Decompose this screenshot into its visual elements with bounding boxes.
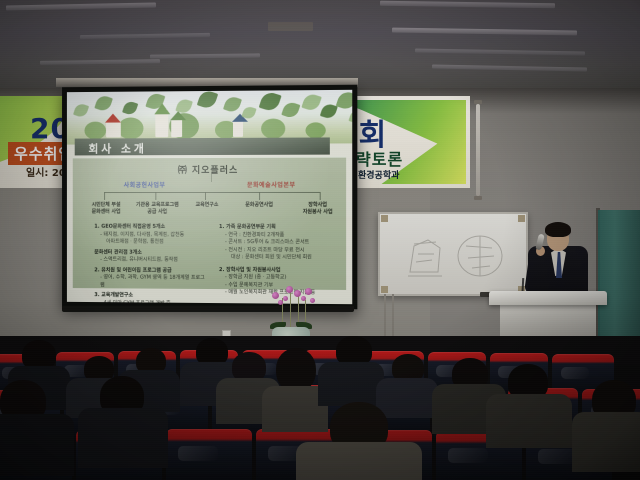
org-node: 기관용 교육프로그램 공급 사업 — [130, 202, 185, 215]
bullet: 대상 : 문화센터 회원 및 시민단체 회원 — [219, 254, 336, 262]
org-node: 장학사업 자원봉사 사업 — [289, 202, 346, 216]
slide-title: 회사 소개 — [88, 140, 146, 156]
whiteboard-stand-leg — [392, 294, 394, 338]
whiteboard — [378, 212, 528, 296]
wall-tube-light — [476, 104, 480, 196]
slide-hero-illustration — [67, 90, 352, 145]
projection-screen: 회사 소개 ㈜ 지오플러스 사회공헌사업부 문화예술사업본부 시민단체 부설 문… — [62, 85, 357, 310]
podium-top — [489, 291, 607, 305]
screen-bottom-bar — [62, 306, 354, 312]
slide-body: ㈜ 지오플러스 사회공헌사업부 문화예술사업본부 시민단체 부설 문화센터 사업… — [73, 157, 346, 290]
bullet: 아파트매점ㆍ문학점, 통천점 — [94, 239, 209, 247]
slide-company-name: ㈜ 지오플러스 — [73, 163, 346, 177]
org-group-label-left: 사회공헌사업부 — [124, 180, 166, 189]
seat — [166, 429, 252, 480]
audience-seating — [0, 336, 640, 480]
bullet: - 스액트리점, 유니버시티드점, 동작점 — [94, 256, 209, 264]
ceiling-vent — [268, 22, 313, 31]
slide-left-column: 1. GEO문화센터 직접운영 5개소 - 돼지점, 이지점, 다사점, 목계점… — [94, 224, 209, 304]
bullet: - 영어, 수학, 과학, GYM 영역 등 18개계열 프로그램 — [94, 274, 209, 290]
door-panel[interactable] — [598, 210, 640, 350]
whiteboard-stand-leg — [384, 294, 386, 338]
speaker-hair — [545, 222, 571, 237]
bullet: - 4세 미만 GYM 프로그램 개발 중 — [94, 300, 209, 305]
org-node: 시민단체 부설 문화센터 사업 — [79, 202, 134, 215]
whiteboard-sketch-icon — [380, 214, 526, 294]
org-node: 교육연구소 — [179, 202, 235, 209]
photograph-scene: 200 우수취업 일시: 2009. 수회 공 전략토론 대학교 환경공학과 — [0, 0, 640, 480]
org-group-label-right: 문화예술사업본부 — [247, 180, 296, 189]
slide-right-column: 1. 가족 문화공연부문 기획 - 연극 : 친환경파티 2개작품 - 콘서트 … — [219, 224, 336, 297]
org-node: 문화공연사업 — [231, 202, 287, 209]
presentation-slide: 회사 소개 ㈜ 지오플러스 사회공헌사업부 문화예술사업본부 시민단체 부설 문… — [67, 90, 352, 304]
